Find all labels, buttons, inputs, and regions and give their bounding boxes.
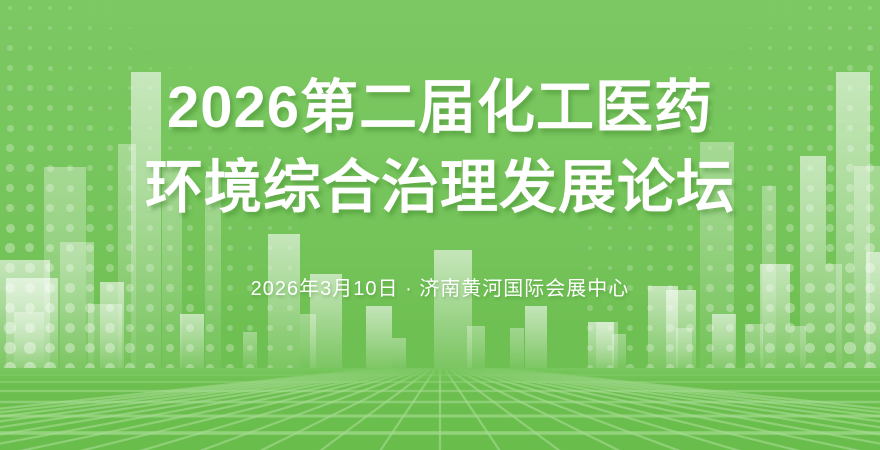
banner-content: 2026第二届化工医药 环境综合治理发展论坛 2026年3月10日 · 济南黄河… <box>0 0 880 450</box>
title-line-2: 环境综合治理发展论坛 <box>145 148 735 228</box>
event-banner: 2026第二届化工医药 环境综合治理发展论坛 2026年3月10日 · 济南黄河… <box>0 0 880 450</box>
event-subtitle: 2026年3月10日 · 济南黄河国际会展中心 <box>251 276 630 302</box>
title-line-1: 2026第二届化工医药 <box>167 68 713 148</box>
